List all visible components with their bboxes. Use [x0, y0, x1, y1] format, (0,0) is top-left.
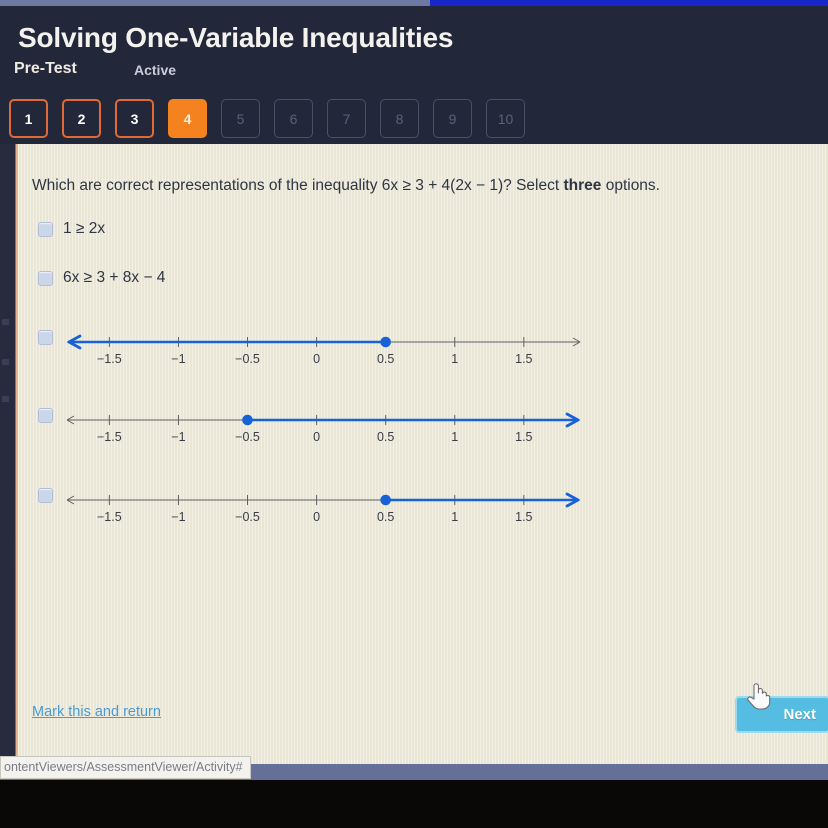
status-badge: Active — [134, 62, 176, 78]
question-button-5: 5 — [221, 99, 260, 138]
question-button-4[interactable]: 4 — [168, 99, 207, 138]
prompt-part-1: Which are correct representations of the… — [32, 177, 563, 194]
question-button-6: 6 — [274, 99, 313, 138]
tick-label: −1.5 — [97, 510, 122, 524]
prompt-part-2: options. — [601, 177, 660, 194]
number-line-svg: −1.5−1−0.500.511.5 — [61, 324, 586, 380]
answer-option-text[interactable]: 1 ≥ 2x — [38, 220, 105, 238]
question-prompt: Which are correct representations of the… — [32, 176, 812, 196]
tick-label: 0.5 — [377, 430, 394, 444]
tick-label: −0.5 — [235, 430, 260, 444]
tick-label: 1.5 — [515, 510, 532, 524]
number-line-graph: −1.5−1−0.500.511.5 — [61, 324, 586, 380]
tick-label: 0 — [313, 430, 320, 444]
next-button[interactable]: Next — [735, 696, 828, 733]
number-line-svg: −1.5−1−0.500.511.5 — [61, 402, 586, 458]
tick-label: 0 — [313, 510, 320, 524]
tick-label: −1 — [171, 352, 185, 366]
assessment-header: Solving One-Variable Inequalities Pre-Te… — [0, 6, 828, 144]
rail-mark — [2, 319, 9, 325]
number-line-graph: −1.5−1−0.500.511.5 — [61, 482, 586, 538]
question-panel: Which are correct representations of the… — [16, 144, 828, 764]
question-button-10: 10 — [486, 99, 525, 138]
tick-label: 0 — [313, 352, 320, 366]
number-line-svg: −1.5−1−0.500.511.5 — [61, 482, 586, 538]
left-rail — [0, 144, 15, 764]
tick-label: 1 — [451, 510, 458, 524]
question-button-7: 7 — [327, 99, 366, 138]
tick-label: −0.5 — [235, 352, 260, 366]
tick-label: 1 — [451, 352, 458, 366]
question-button-8: 8 — [380, 99, 419, 138]
tick-label: −1 — [171, 430, 185, 444]
option-checkbox[interactable] — [38, 488, 53, 503]
tick-label: 0.5 — [377, 352, 394, 366]
question-navigator[interactable]: 12345678910 — [9, 99, 525, 138]
answer-option-numberline[interactable]: −1.5−1−0.500.511.5 — [38, 402, 598, 460]
question-button-2[interactable]: 2 — [62, 99, 101, 138]
tick-label: 0.5 — [377, 510, 394, 524]
tick-label: −1.5 — [97, 352, 122, 366]
rail-mark — [2, 396, 9, 402]
page-title: Solving One-Variable Inequalities — [18, 22, 453, 54]
option-checkbox[interactable] — [38, 271, 53, 286]
tick-label: 1.5 — [515, 352, 532, 366]
option-label: 1 ≥ 2x — [63, 220, 105, 238]
panel-footer: Mark this and return Next — [18, 676, 828, 764]
section-label: Pre-Test — [14, 60, 77, 78]
monitor-bezel — [0, 780, 828, 828]
tick-label: −1 — [171, 510, 185, 524]
tick-label: 1.5 — [515, 430, 532, 444]
rail-mark — [2, 359, 9, 365]
question-button-1[interactable]: 1 — [9, 99, 48, 138]
question-button-3[interactable]: 3 — [115, 99, 154, 138]
answer-option-numberline[interactable]: −1.5−1−0.500.511.5 — [38, 482, 598, 540]
mark-and-return-link[interactable]: Mark this and return — [32, 704, 161, 720]
prompt-emphasis: three — [563, 177, 601, 194]
option-checkbox[interactable] — [38, 222, 53, 237]
number-line-graph: −1.5−1−0.500.511.5 — [61, 402, 586, 458]
tick-label: −1.5 — [97, 430, 122, 444]
answer-option-numberline[interactable]: −1.5−1−0.500.511.5 — [38, 324, 598, 382]
option-checkbox[interactable] — [38, 330, 53, 345]
option-label: 6x ≥ 3 + 8x − 4 — [63, 269, 165, 287]
answer-option-text[interactable]: 6x ≥ 3 + 8x − 4 — [38, 269, 165, 287]
option-checkbox[interactable] — [38, 408, 53, 423]
question-button-9: 9 — [433, 99, 472, 138]
browser-status-url: ontentViewers/AssessmentViewer/Activity# — [0, 756, 251, 779]
screen-photo: Solving One-Variable Inequalities Pre-Te… — [0, 0, 828, 828]
tick-label: −0.5 — [235, 510, 260, 524]
tick-label: 1 — [451, 430, 458, 444]
